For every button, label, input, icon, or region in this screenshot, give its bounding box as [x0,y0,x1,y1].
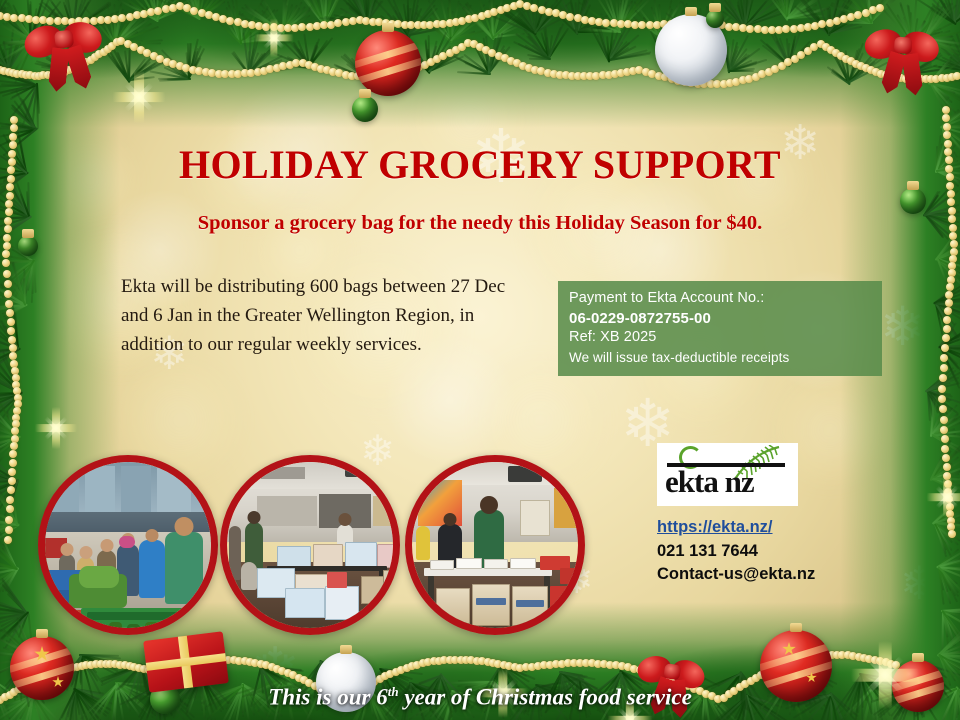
photo-warehouse-stacked-goods [220,455,400,635]
payment-reference: Ref: XB 2025 [569,328,882,348]
photo-volunteers-produce-stall [38,455,218,635]
logo-wordmark: ekta nz [665,461,790,503]
poster-body-text: Ekta will be distributing 600 bags betwe… [121,272,511,359]
ekta-nz-logo: ekta nz [657,443,798,506]
phone-number: 021 131 7644 [657,540,907,563]
payment-receipts-note: We will issue tax-deductible receipts [569,348,882,368]
tagline-before: This is our 6 [268,685,388,710]
poster-tagline: This is our 6th year of Christmas food s… [0,684,960,711]
tagline-ordinal: th [388,684,399,699]
website-link[interactable]: https://ekta.nz/ [657,518,907,537]
email-address: Contact-us@ekta.nz [657,563,907,586]
contact-block: https://ekta.nz/ 021 131 7644 Contact-us… [657,518,907,586]
tagline-after: year of Christmas food service [399,685,692,710]
holiday-grocery-support-poster: ❄❄❄❄❄❄❄❄❄❄ HOLIDAY GROCERY SUPPORT Spons… [0,0,960,720]
photo-volunteers-packing-bags [405,455,585,635]
payment-heading: Payment to Ekta Account No.: [569,289,882,309]
poster-subtitle: Sponsor a grocery bag for the needy this… [0,212,960,235]
page-title: HOLIDAY GROCERY SUPPORT [0,141,960,188]
payment-details-panel: Payment to Ekta Account No.: 06-0229-087… [558,281,882,376]
payment-account-number: 06-0229-0872755-00 [569,309,882,329]
